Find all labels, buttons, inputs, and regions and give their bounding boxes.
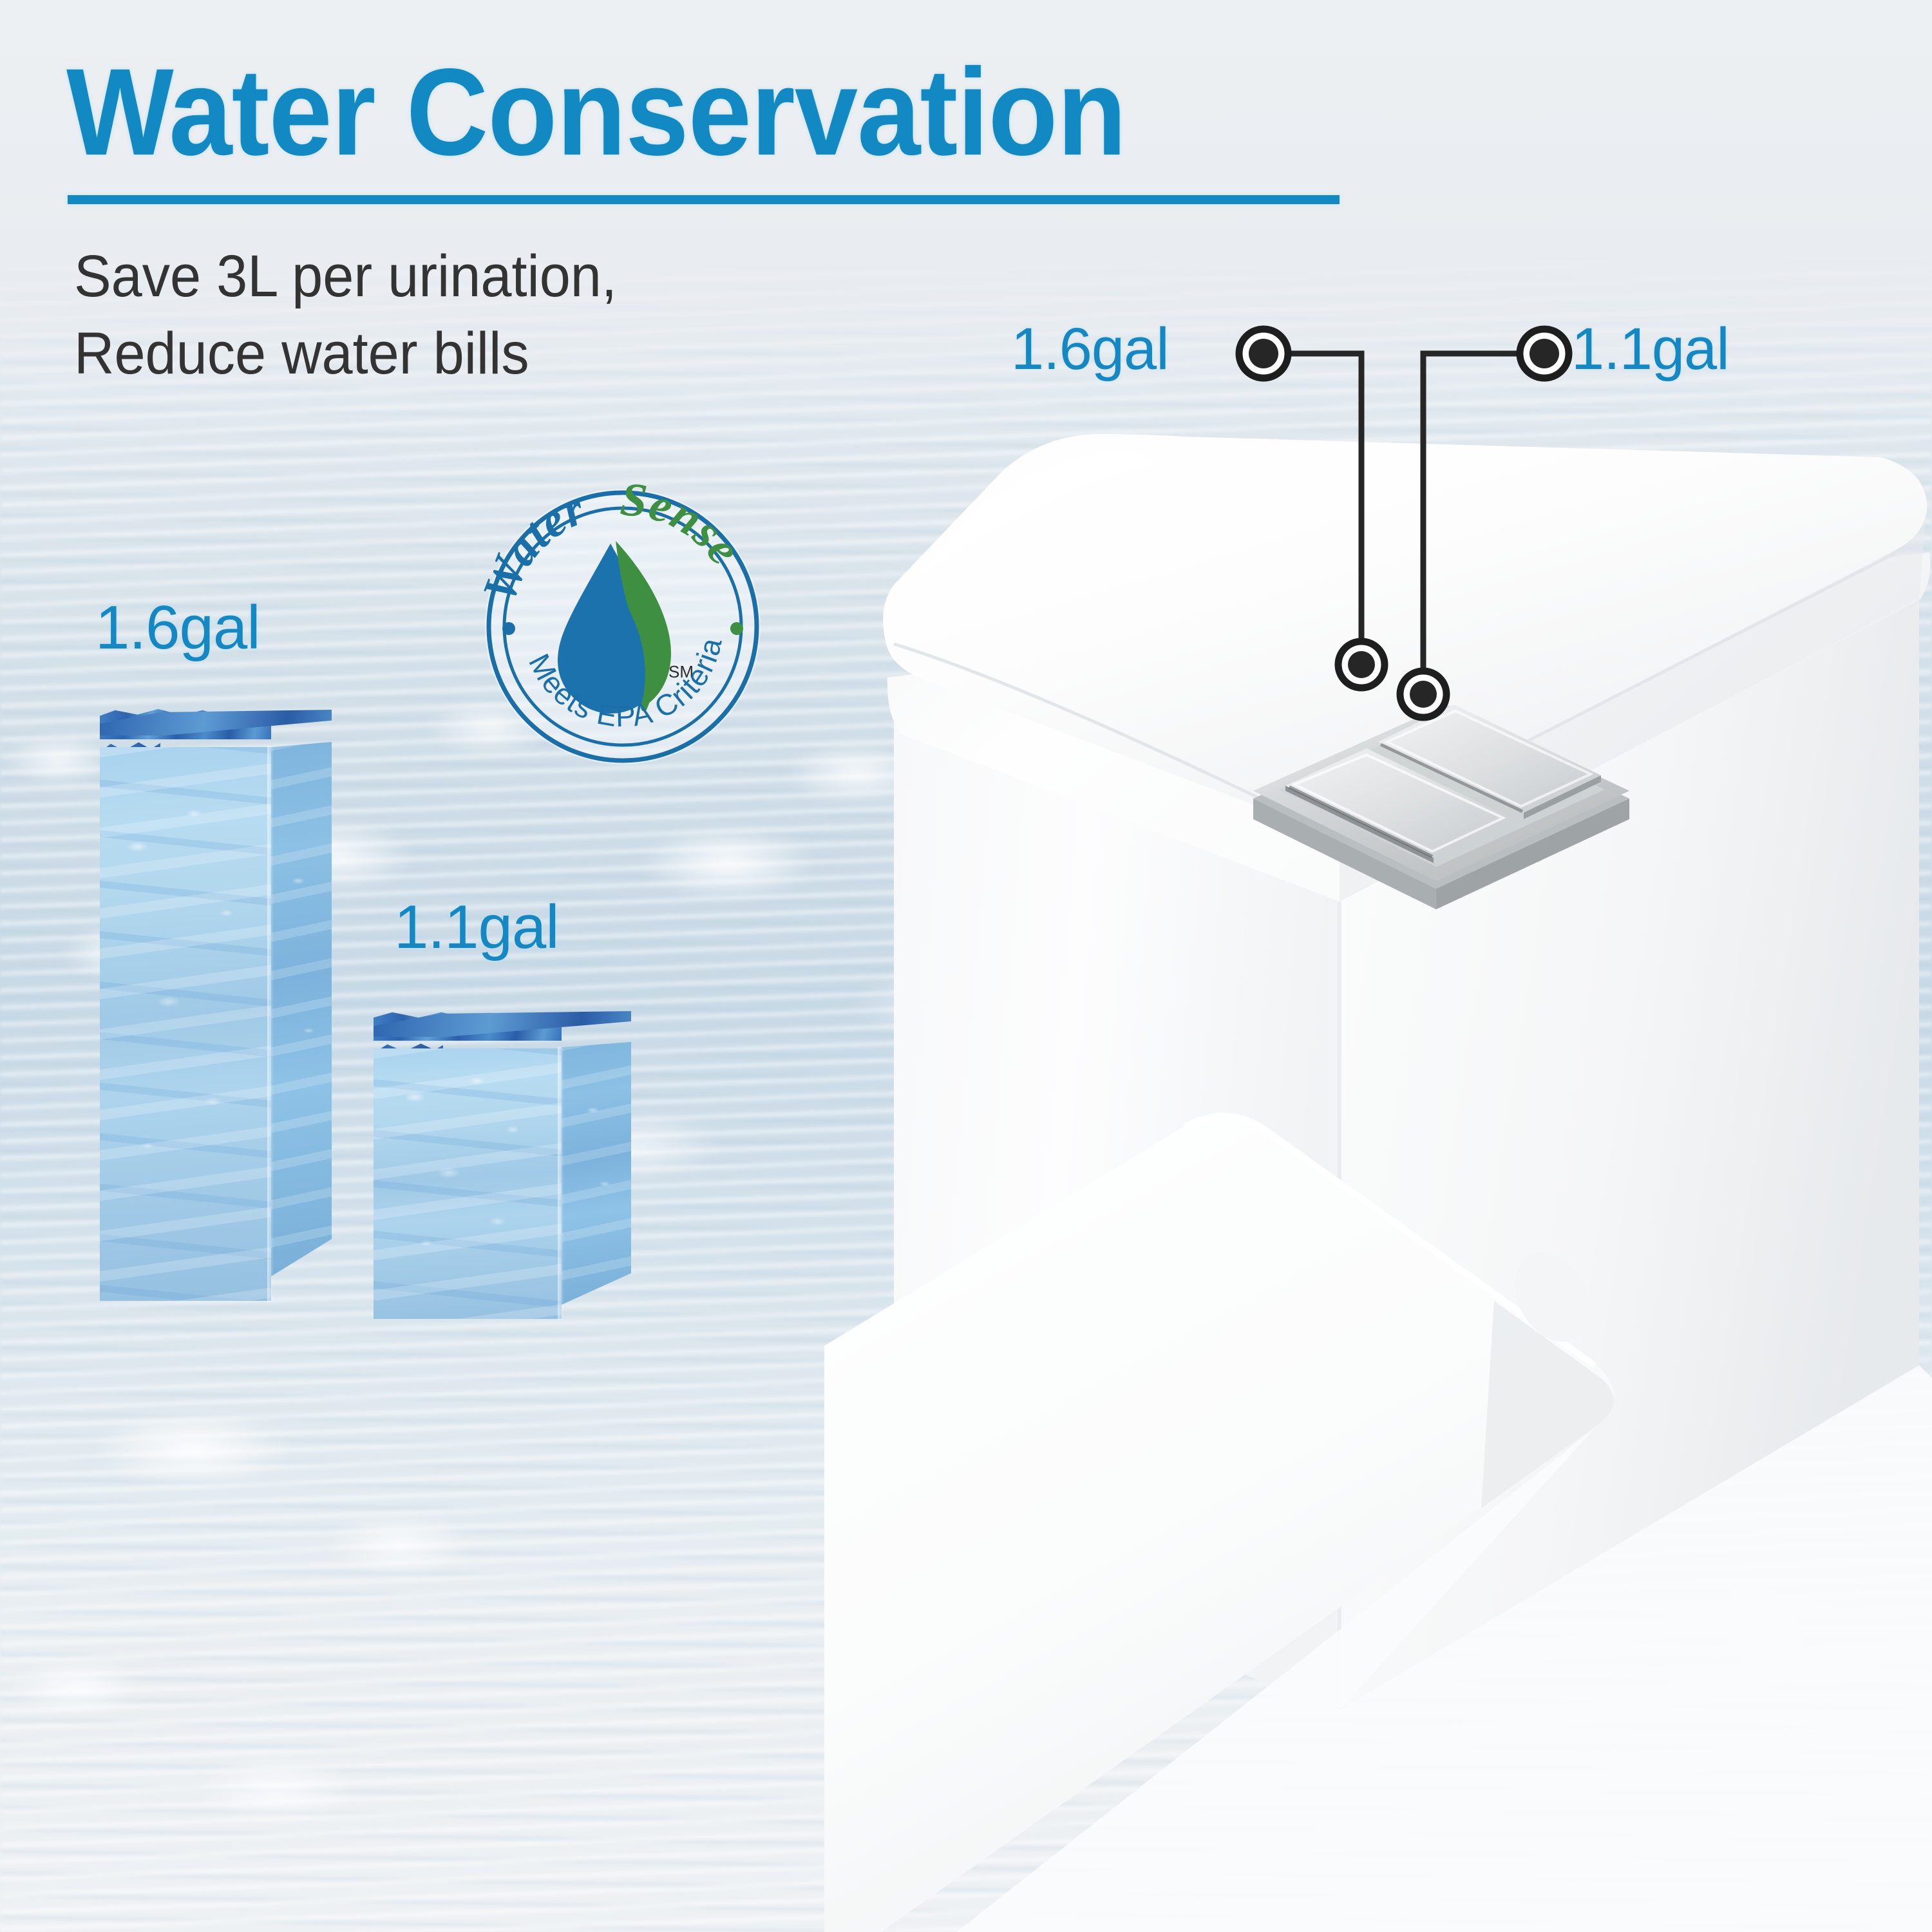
page-title: Water Conservation: [66, 50, 1126, 174]
bar-half-flush: [374, 1011, 631, 1327]
title-underline-rule: [68, 195, 1340, 204]
bar-full-flush: [100, 708, 332, 1301]
bar-front-edge-highlight: [267, 746, 274, 1302]
bar2-front-face: [374, 1048, 562, 1319]
badge-dot-right: [730, 622, 743, 635]
page-subtitle: Save 3L per urination, Reduce water bill…: [74, 238, 617, 392]
bar2-side-face: [562, 1042, 631, 1305]
bar-side-face: [271, 742, 332, 1276]
badge-dot-left: [502, 622, 515, 635]
callout-label-full-flush: 1.6gal: [1011, 316, 1169, 383]
bar2-front-edge-highlight: [558, 1047, 564, 1320]
infographic-canvas: Water Conservation Save 3L per urination…: [0, 0, 1932, 1932]
bar-label-half-flush: 1.1gal: [394, 892, 559, 963]
bar-label-full-flush: 1.6gal: [95, 592, 260, 663]
bar-front-face: [100, 747, 271, 1301]
toilet-product-photo: [824, 386, 1932, 1932]
watersense-badge: SM Water Sense Meets EPA Criteria: [478, 482, 768, 772]
callout-label-half-flush: 1.1gal: [1571, 316, 1729, 383]
